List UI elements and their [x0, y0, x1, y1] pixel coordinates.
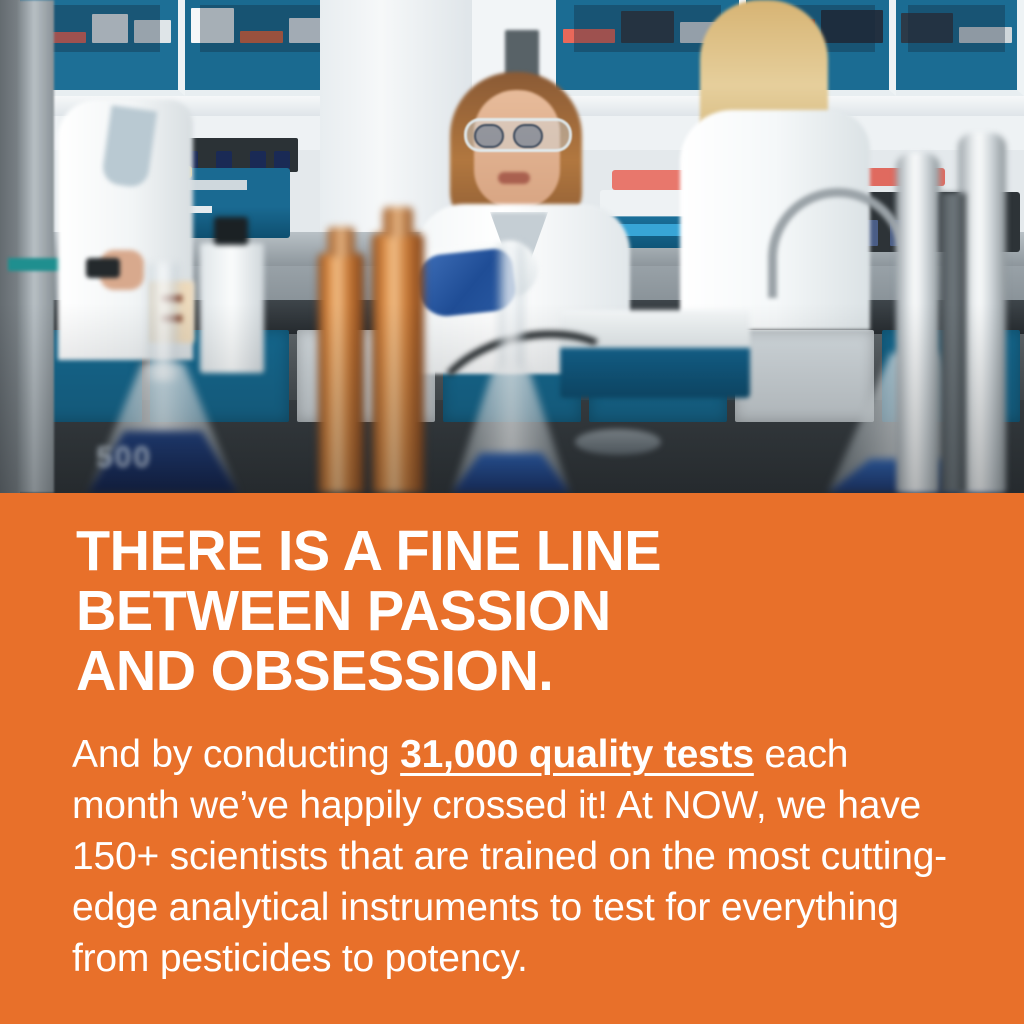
promo-poster: 500 THERE IS A FINE LINE BETWEEN PASSION…: [0, 0, 1024, 1024]
eyeglass-lens-left: [474, 124, 504, 148]
lab-photo: 500: [0, 0, 1024, 493]
eyeglass-lens-right: [513, 124, 543, 148]
message-panel: THERE IS A FINE LINE BETWEEN PASSION AND…: [0, 493, 1024, 1024]
gas-cylinder-1: [896, 153, 940, 493]
amber-cylinder-1: [318, 253, 364, 493]
body-copy: And by conducting 31,000 quality tests e…: [72, 729, 952, 984]
amber-cylinder-2: [372, 233, 424, 493]
flask-clear-center-neck: [498, 243, 524, 371]
cabinet-2-contents: [191, 2, 332, 43]
flask-clear-center: [452, 243, 570, 493]
center-scientist-mouth: [498, 172, 530, 184]
cabinet-7-contents: [901, 2, 1012, 43]
left-frame-edge: [0, 0, 20, 493]
gas-cylinder-dark: [940, 193, 966, 493]
headline: THERE IS A FINE LINE BETWEEN PASSION AND…: [76, 521, 938, 701]
body-copy-before: And by conducting: [72, 733, 400, 776]
cabinet-7: [896, 0, 1024, 96]
quality-tests-highlight: 31,000 quality tests: [400, 733, 754, 776]
left-post: [18, 0, 54, 493]
flask-graduation-label: 500: [96, 441, 152, 475]
